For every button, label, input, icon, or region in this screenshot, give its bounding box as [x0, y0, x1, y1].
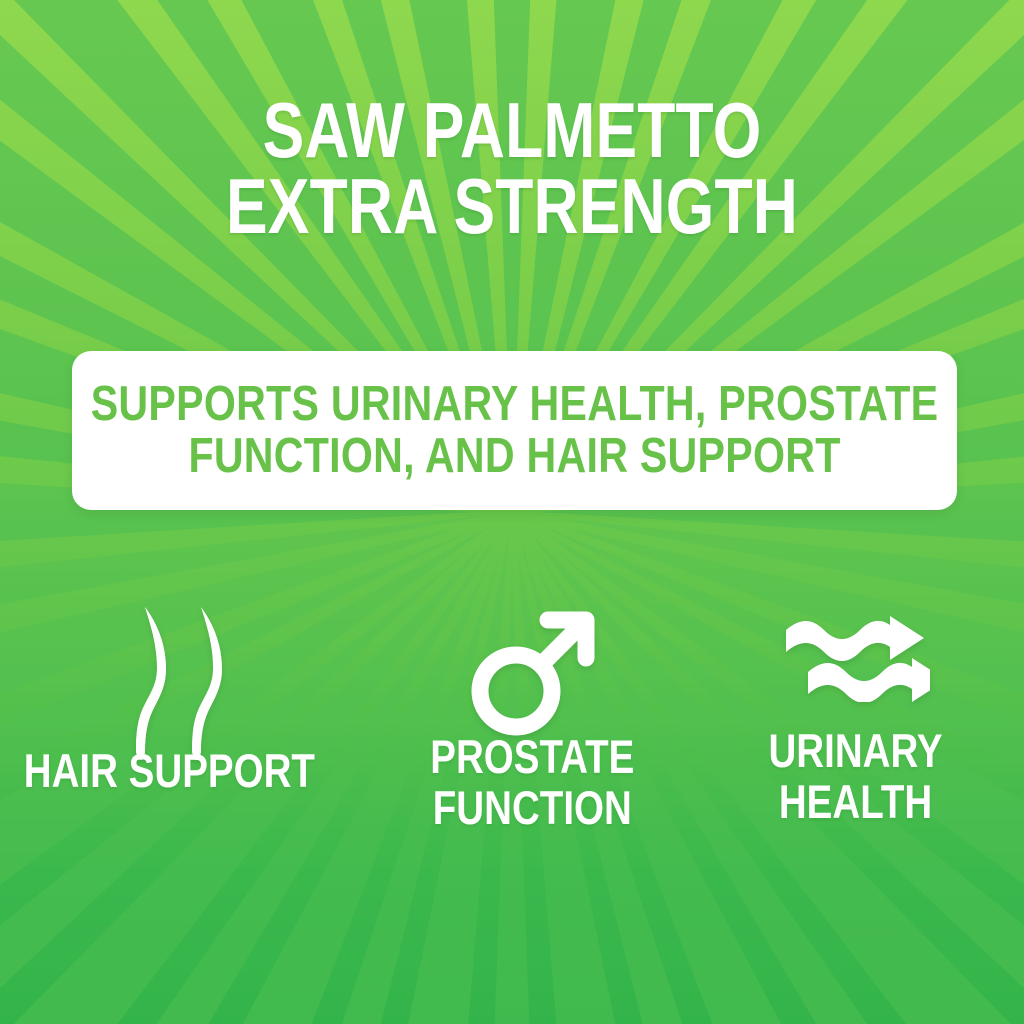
benefit-label-line: FUNCTION [430, 783, 634, 834]
benefits-row: HAIR SUPPORT PROSTATE FUNCTION [0, 565, 1024, 895]
wavy-flow-arrows-icon [780, 571, 930, 746]
headline-line-1: SAW PALMETTO [102, 92, 921, 168]
benefit-label-line: URINARY [768, 726, 942, 777]
claim-box: SUPPORTS URINARY HEALTH, PROSTATE FUNCTI… [72, 351, 957, 510]
poster-headline: SAW PALMETTO EXTRA STRENGTH [102, 92, 921, 245]
benefit-urinary-health: URINARY HEALTH [690, 565, 1024, 895]
benefit-hair-support: HAIR SUPPORT [0, 565, 355, 895]
benefit-hair-support-label: HAIR SUPPORT [24, 746, 315, 797]
benefit-prostate-function: PROSTATE FUNCTION [355, 565, 689, 895]
benefit-label-line: PROSTATE [430, 732, 634, 783]
benefit-prostate-function-label: PROSTATE FUNCTION [430, 732, 634, 834]
claim-line-2: FUNCTION, AND HAIR SUPPORT [91, 431, 939, 482]
benefit-label-line: HAIR SUPPORT [24, 746, 315, 797]
claim-line-1: SUPPORTS URINARY HEALTH, PROSTATE [91, 379, 939, 430]
headline-line-2: EXTRA STRENGTH [102, 168, 921, 244]
claim-text: SUPPORTS URINARY HEALTH, PROSTATE FUNCTI… [91, 379, 939, 482]
benefit-urinary-health-label: URINARY HEALTH [768, 726, 942, 828]
benefit-label-line: HEALTH [768, 777, 942, 828]
hair-strands-icon [113, 593, 223, 768]
product-benefit-poster: SAW PALMETTO EXTRA STRENGTH SUPPORTS URI… [0, 0, 1024, 1024]
